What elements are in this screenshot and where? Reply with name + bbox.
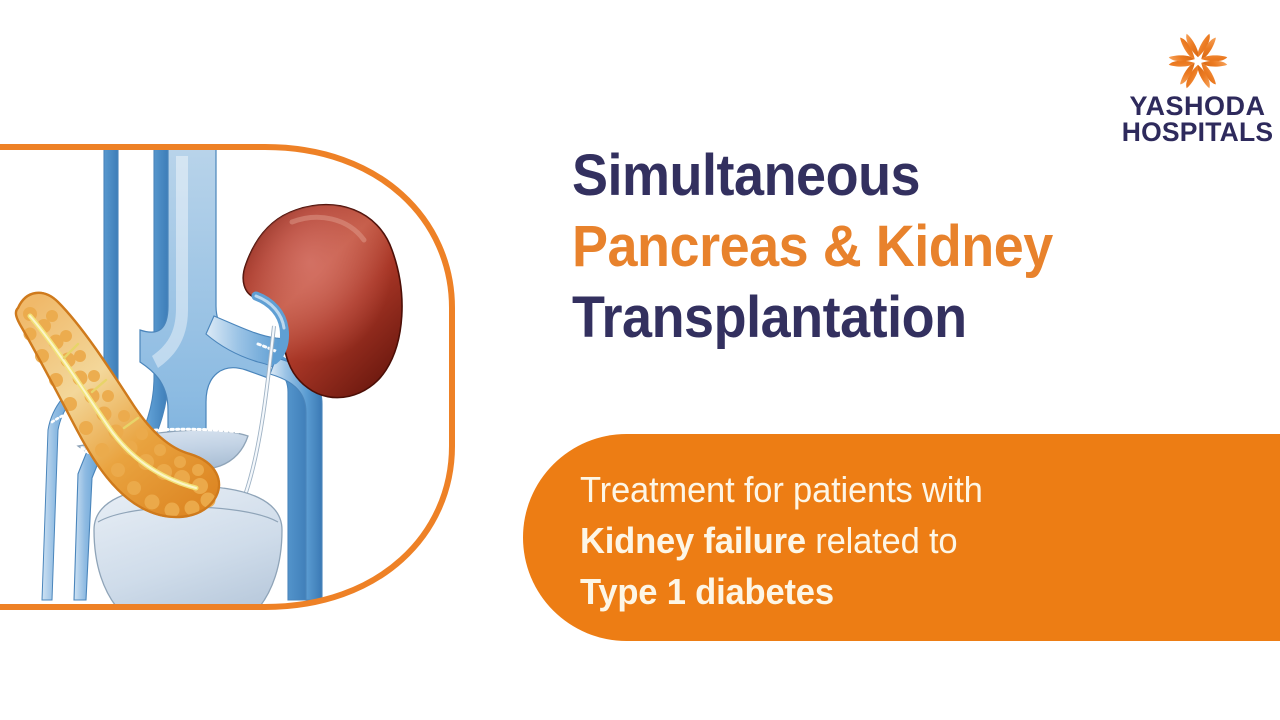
headline-line-2: Pancreas & Kidney — [572, 211, 1167, 282]
banner-line-2-rest: related to — [806, 520, 958, 561]
anatomy-illustration-panel — [0, 130, 500, 622]
banner-line-1: Treatment for patients with — [580, 464, 1194, 515]
banner-line-3: Type 1 diabetes — [580, 566, 1194, 617]
banner-line-2: Kidney failure related to — [580, 515, 1194, 566]
infographic-canvas: YASHODA HOSPITALS Simultaneous Pancreas … — [0, 0, 1280, 720]
banner-line-2-bold: Kidney failure — [580, 520, 806, 561]
logo-wordmark: YASHODA HOSPITALS — [1110, 94, 1280, 145]
treatment-banner-text: Treatment for patients with Kidney failu… — [580, 464, 1220, 617]
page-title: Simultaneous Pancreas & Kidney Transplan… — [572, 140, 1212, 353]
organ-group — [16, 144, 402, 622]
six-petal-flower-icon — [1160, 30, 1236, 92]
headline-line-1: Simultaneous — [572, 140, 1167, 211]
anatomy-diagram — [0, 130, 500, 622]
headline-line-3: Transplantation — [572, 282, 1167, 353]
yashoda-hospitals-logo: YASHODA HOSPITALS — [1110, 30, 1280, 155]
treatment-banner: Treatment for patients with Kidney failu… — [523, 434, 1280, 641]
